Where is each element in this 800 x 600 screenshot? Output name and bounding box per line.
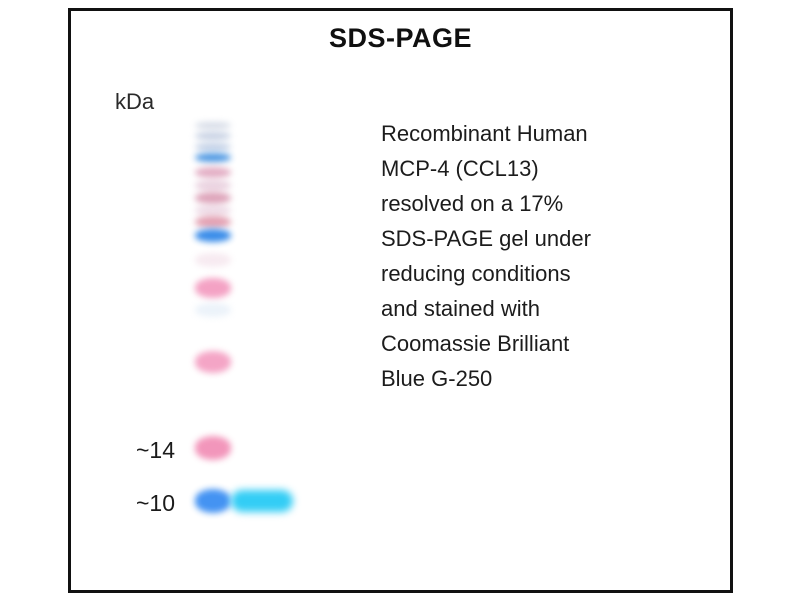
mass-marker-label: ~10 xyxy=(113,490,175,517)
ladder-band-14 xyxy=(195,351,231,373)
ladder-band-11 xyxy=(195,253,231,267)
ladder-band-1 xyxy=(195,122,231,129)
caption-line: Blue G-250 xyxy=(381,361,671,396)
sample-band-mcp4 xyxy=(231,490,293,512)
ladder-band-6 xyxy=(195,180,231,191)
ladder-band-12 xyxy=(195,278,231,298)
ladder-band-3 xyxy=(195,143,231,151)
caption-line: reducing conditions xyxy=(381,256,671,291)
ladder-band-8 xyxy=(195,205,231,216)
caption-line: SDS-PAGE gel under xyxy=(381,221,671,256)
figure-caption: Recombinant HumanMCP-4 (CCL13)resolved o… xyxy=(381,116,671,396)
caption-line: Coomassie Brilliant xyxy=(381,326,671,361)
ladder-band-9 xyxy=(195,216,231,228)
sds-page-figure-frame: SDS-PAGE kDa ~14~10 Recombinant HumanMCP… xyxy=(68,8,733,593)
caption-line: and stained with xyxy=(381,291,671,326)
mass-marker-label: ~14 xyxy=(113,437,175,464)
caption-line: Recombinant Human xyxy=(381,116,671,151)
ladder-band-4 xyxy=(195,153,231,162)
ladder-band-7 xyxy=(195,192,231,204)
caption-line: MCP-4 (CCL13) xyxy=(381,151,671,186)
ladder-band-5 xyxy=(195,167,231,178)
ladder-band-2 xyxy=(195,132,231,140)
ladder-band-13 xyxy=(195,303,231,317)
ladder-band-15 xyxy=(195,436,231,460)
caption-line: resolved on a 17% xyxy=(381,186,671,221)
ladder-band-16 xyxy=(195,489,231,513)
ladder-band-10 xyxy=(195,229,231,242)
